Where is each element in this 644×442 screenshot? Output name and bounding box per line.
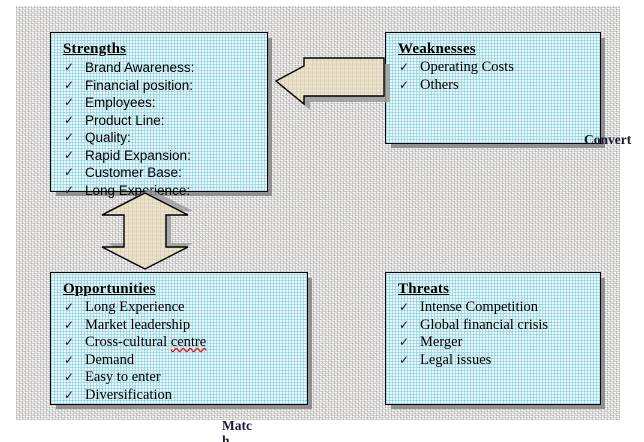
list-item: ✓Long Experience — [85, 299, 301, 317]
check-icon: ✓ — [64, 129, 74, 147]
list-item-label: Brand Awareness: — [85, 60, 194, 75]
check-icon: ✓ — [64, 112, 74, 130]
match-label-line-1: Matc — [222, 418, 252, 433]
opportunities-list: ✓Long Experience ✓Market leadership ✓Cro… — [61, 299, 301, 404]
match-arrow: Matc h — [96, 193, 194, 269]
list-item: ✓Market leadership — [85, 317, 301, 335]
swot-box-threats: Threats ✓Intense Competition ✓Global fin… — [385, 272, 601, 405]
list-item: ✓Easy to enter — [85, 369, 301, 387]
check-icon: ✓ — [64, 369, 74, 387]
swot-box-opportunities: Opportunities ✓Long Experience ✓Market l… — [50, 272, 308, 405]
convert-arrow: Convert — [276, 58, 384, 110]
list-item-label: Easy to enter — [85, 369, 161, 385]
list-item: ✓Others — [420, 77, 594, 95]
check-icon: ✓ — [399, 352, 409, 370]
check-icon: ✓ — [399, 317, 409, 335]
list-item-label: Financial position: — [85, 78, 193, 93]
list-item-label: Long Experience — [85, 299, 184, 315]
list-item: ✓Customer Base: — [85, 164, 261, 182]
list-item: ✓Cross-cultural centre — [85, 334, 301, 352]
list-item-label: Legal issues — [420, 352, 491, 368]
check-icon: ✓ — [399, 59, 409, 77]
list-item: ✓Legal issues — [420, 352, 594, 370]
list-item: ✓Merger — [420, 334, 594, 352]
list-item: ✓Product Line: — [85, 112, 261, 130]
weaknesses-title: Weaknesses — [398, 41, 594, 58]
list-item: ✓Demand — [85, 352, 301, 370]
list-item: ✓Employees: — [85, 94, 261, 112]
check-icon: ✓ — [64, 77, 74, 95]
list-item: ✓Operating Costs — [420, 59, 594, 77]
list-item-label: Customer Base: — [85, 165, 182, 180]
threats-title: Threats — [398, 281, 594, 298]
strengths-list: ✓Brand Awareness: ✓Financial position: ✓… — [61, 59, 261, 199]
list-item-label: Operating Costs — [420, 59, 514, 75]
match-arrow-shape — [96, 193, 194, 269]
strengths-title: Strengths — [63, 41, 261, 58]
list-item: ✓Global financial crisis — [420, 317, 594, 335]
swot-box-weaknesses: Weaknesses ✓Operating Costs ✓Others — [385, 32, 601, 144]
check-icon: ✓ — [399, 299, 409, 317]
list-item: ✓Diversification — [85, 387, 301, 405]
list-item: ✓Financial position: — [85, 77, 261, 95]
list-item-label: Others — [420, 77, 459, 93]
check-icon: ✓ — [64, 147, 74, 165]
list-item-label: Employees: — [85, 95, 156, 110]
list-item-label: Market leadership — [85, 317, 190, 333]
match-label-line-2: h — [222, 433, 230, 442]
list-item-label: Global financial crisis — [420, 317, 548, 333]
list-item-label: Product Line: — [85, 113, 165, 128]
threats-list: ✓Intense Competition ✓Global financial c… — [396, 299, 594, 369]
misspelled-word: centre — [171, 334, 206, 350]
check-icon: ✓ — [64, 387, 74, 405]
check-icon: ✓ — [64, 59, 74, 77]
check-icon: ✓ — [64, 164, 74, 182]
list-item-label: Rapid Expansion: — [85, 148, 191, 163]
opportunities-title: Opportunities — [63, 281, 301, 298]
list-item: ✓Brand Awareness: — [85, 59, 261, 77]
list-item-label: Demand — [85, 352, 134, 368]
check-icon: ✓ — [64, 334, 74, 352]
check-icon: ✓ — [64, 299, 74, 317]
list-item: ✓Rapid Expansion: — [85, 147, 261, 165]
match-arrow-label: Matc h — [222, 418, 256, 442]
check-icon: ✓ — [399, 77, 409, 95]
check-icon: ✓ — [64, 317, 74, 335]
check-icon: ✓ — [64, 94, 74, 112]
list-item: ✓Quality: — [85, 129, 261, 147]
list-item: ✓Intense Competition — [420, 299, 594, 317]
check-icon: ✓ — [64, 182, 74, 200]
weaknesses-list: ✓Operating Costs ✓Others — [396, 59, 594, 94]
list-item-label: Quality: — [85, 130, 131, 145]
convert-arrow-shape — [276, 58, 384, 110]
list-item-label: Diversification — [85, 387, 172, 403]
swot-box-strengths: Strengths ✓Brand Awareness: ✓Financial p… — [50, 32, 268, 192]
list-item-label: Intense Competition — [420, 299, 538, 315]
list-item-label: Merger — [420, 334, 462, 350]
list-item-label-prefix: Cross-cultural — [85, 334, 171, 350]
check-icon: ✓ — [64, 352, 74, 370]
swot-diagram-canvas: Strengths ✓Brand Awareness: ✓Financial p… — [0, 0, 644, 442]
check-icon: ✓ — [399, 334, 409, 352]
